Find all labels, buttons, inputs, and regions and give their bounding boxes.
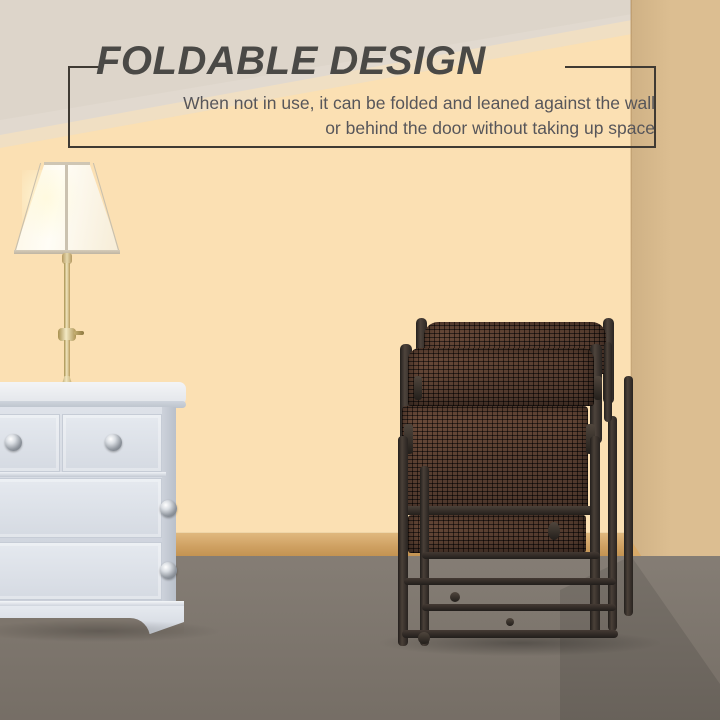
subtitle-line-1: When not in use, it can be folded and le… — [110, 91, 655, 116]
chair-leg-rear-right — [608, 416, 617, 631]
chair-seat-weave — [402, 406, 588, 512]
frame-left-edge — [68, 66, 70, 148]
drawer-knob — [160, 500, 177, 517]
chair-pivot-joint — [548, 522, 560, 540]
lamp-stem-lower — [64, 340, 70, 378]
table-lamp — [8, 158, 128, 393]
dresser-base-edge — [0, 601, 184, 606]
product-lifestyle-image: FOLDABLE DESIGN When not in use, it can … — [0, 0, 720, 720]
dresser-floor-shadow — [0, 620, 220, 642]
chair-crossrail-2 — [404, 578, 616, 585]
drawer-middle — [0, 478, 162, 538]
lamp-stem-upper — [64, 263, 70, 333]
subtitle-line-2: or behind the door without taking up spa… — [110, 116, 655, 141]
frame-top-right-segment — [565, 66, 654, 68]
drawer-bottom — [0, 542, 162, 600]
chair-crossrail-1 — [422, 552, 600, 559]
chair-hinge-upper-right — [594, 376, 602, 400]
subtitle-block: When not in use, it can be folded and le… — [110, 91, 655, 142]
chair-leg-front-left — [398, 436, 408, 646]
chest-of-drawers — [0, 382, 190, 634]
chair-rivet — [450, 592, 460, 602]
chair-crossrail-bottom — [402, 630, 618, 638]
chair-foot-cap-left — [418, 632, 430, 644]
page-title: FOLDABLE DESIGN — [96, 40, 476, 82]
chair-hinge-upper-left — [414, 376, 422, 400]
drawer-knob — [5, 434, 22, 451]
lamp-shade-seam — [65, 163, 68, 251]
lamp-shade-glow — [22, 170, 82, 240]
folded-rattan-chairs — [398, 316, 642, 652]
drawer-knob — [105, 434, 122, 451]
chair-crossrail-3 — [422, 604, 616, 611]
chair-post-upper-right — [604, 342, 612, 422]
lamp-shade-top-rim — [44, 162, 90, 165]
dresser-mid-rail — [0, 472, 166, 477]
frame-bottom-edge — [68, 146, 656, 148]
front-chair-backrest-weave — [408, 348, 594, 406]
chair-leg-rear-right-outer — [624, 376, 633, 616]
drawer-knob — [160, 562, 177, 579]
chair-rivet — [506, 618, 514, 626]
lamp-knob-lever — [74, 331, 84, 335]
